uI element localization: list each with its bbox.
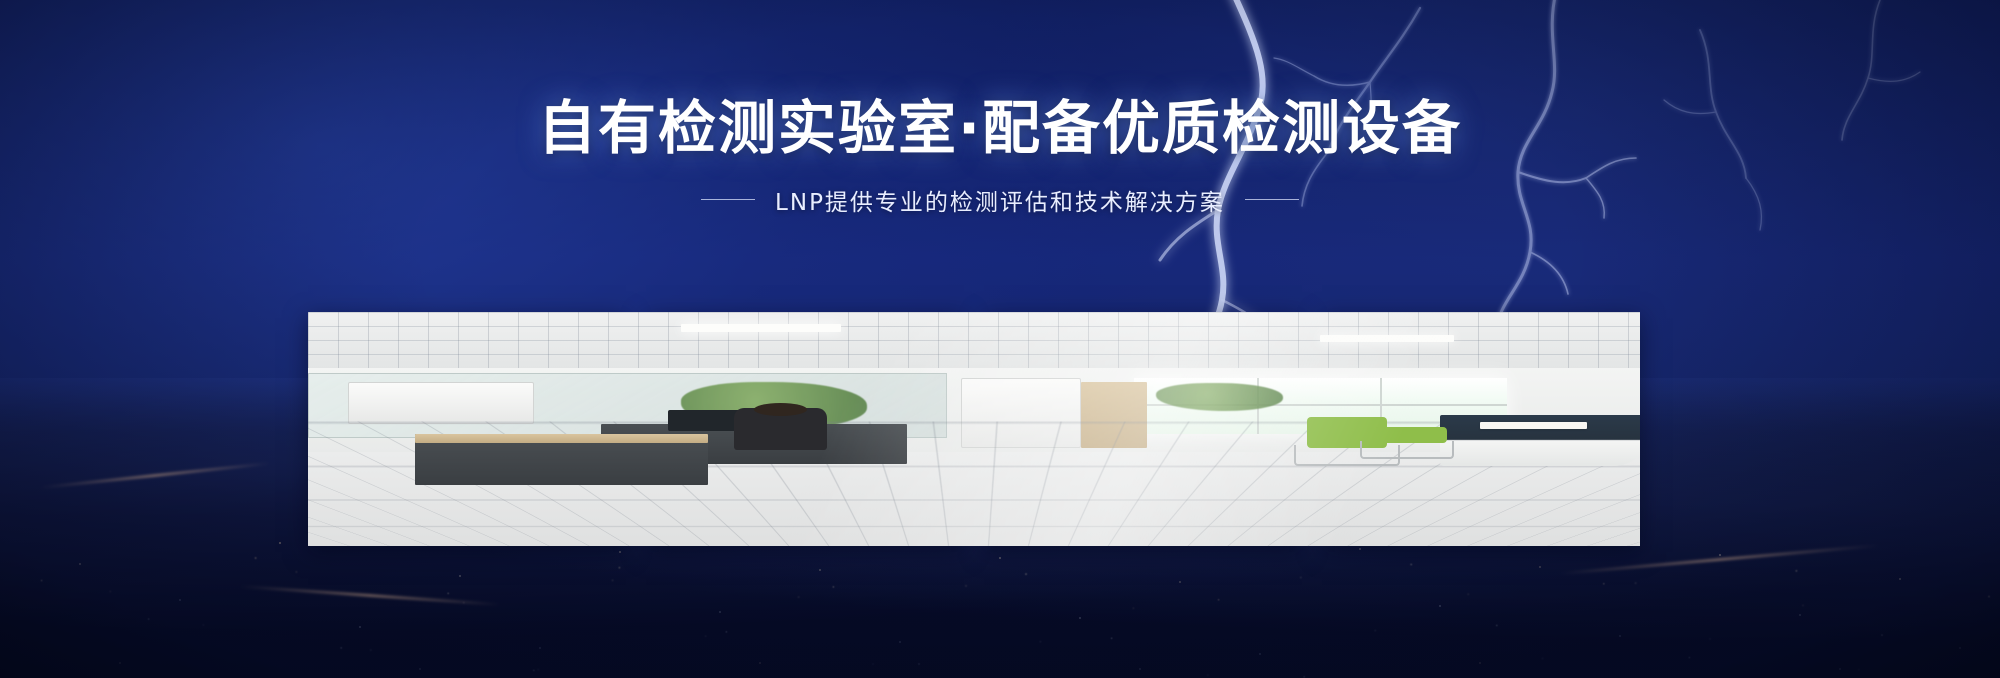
city-road-streak bbox=[40, 462, 269, 489]
rule-left-icon bbox=[701, 199, 755, 200]
city-road-streak bbox=[1560, 544, 1879, 575]
hero-text-block: 自有检测实验室·配备优质检测设备 LNP提供专业的检测评估和技术解决方案 bbox=[0, 96, 2000, 217]
subtitle-row: LNP提供专业的检测评估和技术解决方案 bbox=[0, 183, 2000, 217]
rule-right-icon bbox=[1245, 199, 1299, 200]
window-foliage bbox=[1156, 383, 1283, 411]
page-title: 自有检测实验室·配备优质检测设备 bbox=[0, 96, 2000, 161]
visitor-chair-leg bbox=[1360, 441, 1453, 460]
page-subtitle: LNP提供专业的检测评估和技术解决方案 bbox=[775, 183, 1225, 217]
lab-equipment-cabinet bbox=[348, 382, 534, 424]
counter-paper bbox=[1480, 422, 1587, 429]
facility-gallery: 广东雷宁普电气检测技术有限公司 Guangdong Lighting Prote… bbox=[308, 312, 1640, 546]
desk-top bbox=[415, 434, 708, 443]
hero-banner: 自有检测实验室·配备优质检测设备 LNP提供专业的检测评估和技术解决方案 bbox=[0, 0, 2000, 678]
ceiling-tile-grid bbox=[308, 312, 1640, 373]
gallery-item-office[interactable] bbox=[1322, 312, 1640, 546]
open-office-photo bbox=[308, 312, 1640, 546]
city-road-streak bbox=[240, 585, 500, 606]
ceiling-vent bbox=[681, 324, 841, 332]
ceiling-vent bbox=[1320, 335, 1453, 342]
office-ceiling bbox=[308, 312, 1640, 373]
